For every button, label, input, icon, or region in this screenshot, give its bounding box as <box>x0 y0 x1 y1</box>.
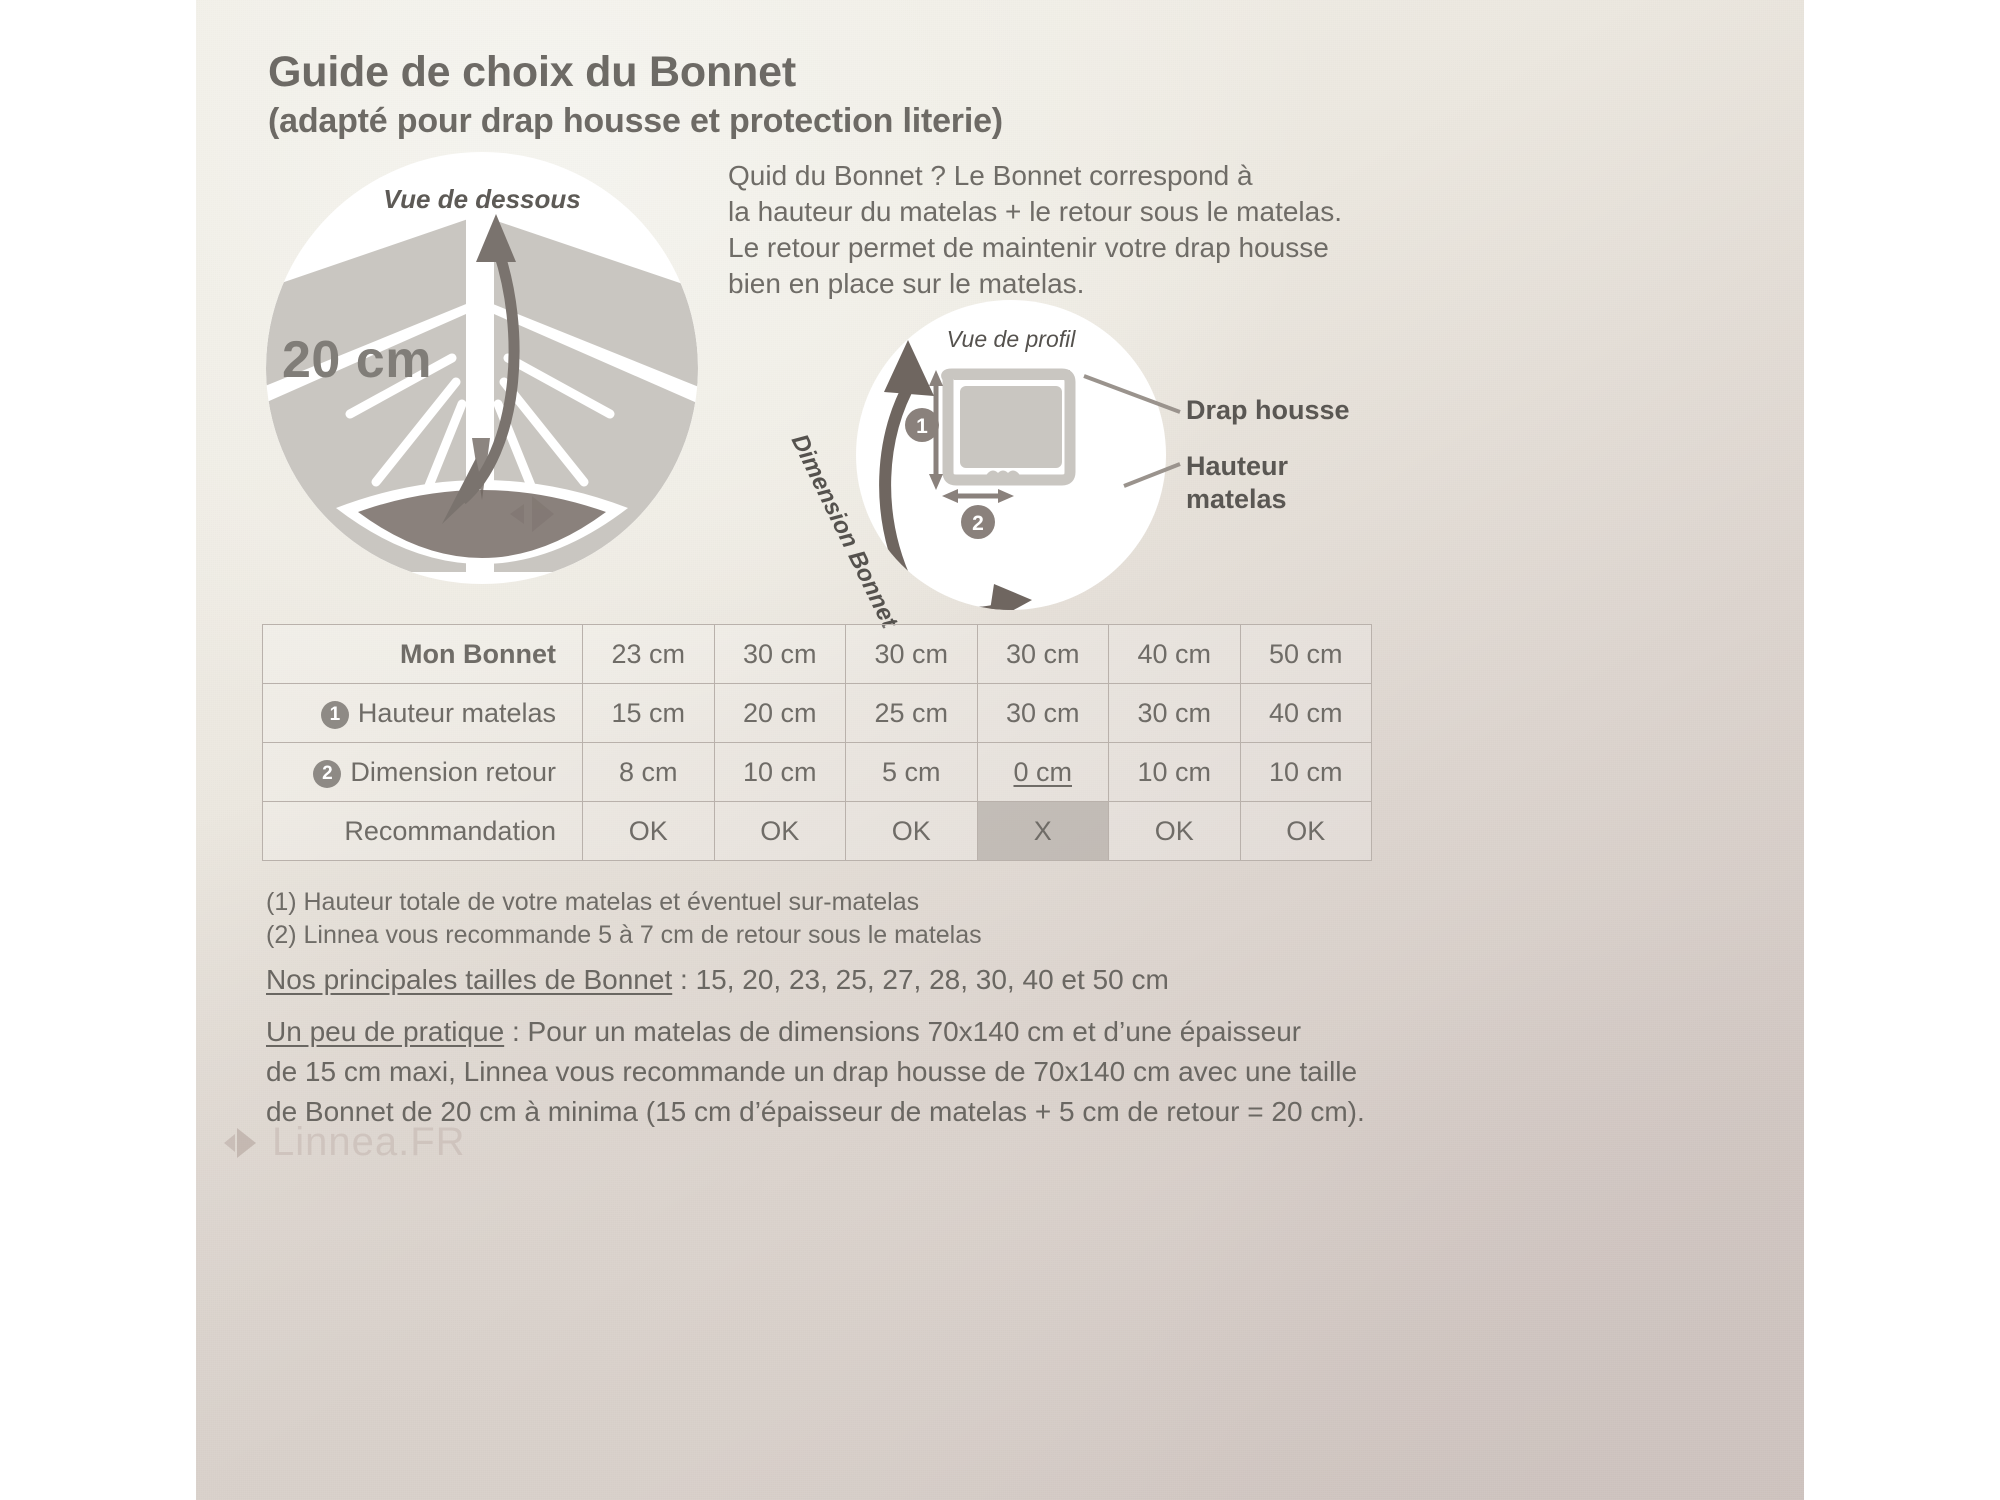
bottom-view-label: Vue de dessous <box>266 184 698 215</box>
practical-line-1: Un peu de pratique : Pour un matelas de … <box>266 1012 1386 1052</box>
row-header: Mon Bonnet <box>263 625 583 684</box>
row-badge-2: 2 <box>313 760 341 788</box>
table-cell: OK <box>1109 802 1241 861</box>
table-element: Mon Bonnet23 cm30 cm30 cm30 cm40 cm50 cm… <box>262 624 1372 861</box>
table-cell: 30 cm <box>714 625 846 684</box>
intro-line-3: Le retour permet de maintenir votre drap… <box>728 230 1348 266</box>
row-badge-1: 1 <box>321 701 349 729</box>
practical-line-2: de 15 cm maxi, Linnea vous recommande un… <box>266 1052 1386 1092</box>
intro-line-2: la hauteur du matelas + le retour sous l… <box>728 194 1348 230</box>
table-cell: 15 cm <box>583 684 715 743</box>
table-cell: 25 cm <box>846 684 978 743</box>
page-title: Guide de choix du Bonnet <box>268 48 796 97</box>
bottom-view-measure: 20 cm <box>282 330 432 390</box>
table-cell: OK <box>1240 802 1372 861</box>
row-label: Recommandation <box>344 816 556 846</box>
table-row: Mon Bonnet23 cm30 cm30 cm30 cm40 cm50 cm <box>263 625 1372 684</box>
footnote-1: (1) Hauteur totale de votre matelas et é… <box>266 886 919 919</box>
table-cell: 5 cm <box>846 743 978 802</box>
row-label: Mon Bonnet <box>400 639 556 669</box>
practical-lead: Un peu de pratique <box>266 1016 504 1047</box>
callout-hauteur-line-2: matelas <box>1186 483 1288 516</box>
practical-line-1-rest: : Pour un matelas de dimensions 70x140 c… <box>504 1016 1301 1047</box>
sizes-line: Nos principales tailles de Bonnet : 15, … <box>266 960 1169 1000</box>
table-cell: 30 cm <box>1109 684 1241 743</box>
side-view-label: Vue de profil <box>856 326 1166 353</box>
table-row: 1Hauteur matelas15 cm20 cm25 cm30 cm30 c… <box>263 684 1372 743</box>
table-body: Mon Bonnet23 cm30 cm30 cm30 cm40 cm50 cm… <box>263 625 1372 861</box>
table-cell: 10 cm <box>1240 743 1372 802</box>
table-cell: 20 cm <box>714 684 846 743</box>
practical-paragraph: Un peu de pratique : Pour un matelas de … <box>266 1012 1386 1132</box>
page-subtitle: (adapté pour drap housse et protection l… <box>268 102 1003 141</box>
cell-value-underlined: 0 cm <box>1013 757 1072 787</box>
table-cell: OK <box>846 802 978 861</box>
table-cell: X <box>977 802 1109 861</box>
table-cell: 0 cm <box>977 743 1109 802</box>
row-header: Recommandation <box>263 802 583 861</box>
row-header: 2Dimension retour <box>263 743 583 802</box>
linnea-logo: Linnea.FR <box>224 1120 466 1165</box>
callout-hauteur-matelas: Hauteur matelas <box>1186 450 1288 516</box>
bonnet-size-table: Mon Bonnet23 cm30 cm30 cm30 cm40 cm50 cm… <box>262 624 1372 861</box>
callout-drap-housse: Drap housse <box>1186 394 1350 427</box>
infographic-canvas: Guide de choix du Bonnet (adapté pour dr… <box>196 0 1804 1500</box>
table-cell: 30 cm <box>846 625 978 684</box>
intro-paragraph: Quid du Bonnet ? Le Bonnet correspond à … <box>728 158 1348 302</box>
footnote-2: (2) Linnea vous recommande 5 à 7 cm de r… <box>266 919 982 952</box>
infographic-page: Guide de choix du Bonnet (adapté pour dr… <box>0 0 2000 1500</box>
intro-line-4: bien en place sur le matelas. <box>728 266 1348 302</box>
table-cell: 10 cm <box>1109 743 1241 802</box>
intro-line-1: Quid du Bonnet ? Le Bonnet correspond à <box>728 158 1348 194</box>
table-row: RecommandationOKOKOKXOKOK <box>263 802 1372 861</box>
diagram-bottom-view: Vue de dessous 20 cm <box>266 152 698 584</box>
row-header: 1Hauteur matelas <box>263 684 583 743</box>
table-cell: 30 cm <box>977 684 1109 743</box>
sizes-lead: Nos principales tailles de Bonnet <box>266 964 672 995</box>
table-row: 2Dimension retour8 cm10 cm5 cm0 cm10 cm1… <box>263 743 1372 802</box>
table-cell: OK <box>583 802 715 861</box>
table-cell: 40 cm <box>1109 625 1241 684</box>
table-cell: OK <box>714 802 846 861</box>
table-cell: 30 cm <box>977 625 1109 684</box>
svg-text:2: 2 <box>972 512 984 535</box>
table-cell: 23 cm <box>583 625 715 684</box>
row-label: Hauteur matelas <box>358 698 556 728</box>
callout-hauteur-line-1: Hauteur <box>1186 450 1288 483</box>
sizes-rest: : 15, 20, 23, 25, 27, 28, 30, 40 et 50 c… <box>672 964 1169 995</box>
svg-text:1: 1 <box>916 415 928 438</box>
logo-text: Linnea.FR <box>272 1120 466 1165</box>
table-cell: 8 cm <box>583 743 715 802</box>
table-cell: 10 cm <box>714 743 846 802</box>
table-cell: 40 cm <box>1240 684 1372 743</box>
row-label: Dimension retour <box>350 757 556 787</box>
table-cell: 50 cm <box>1240 625 1372 684</box>
logo-mark-icon <box>224 1126 258 1160</box>
